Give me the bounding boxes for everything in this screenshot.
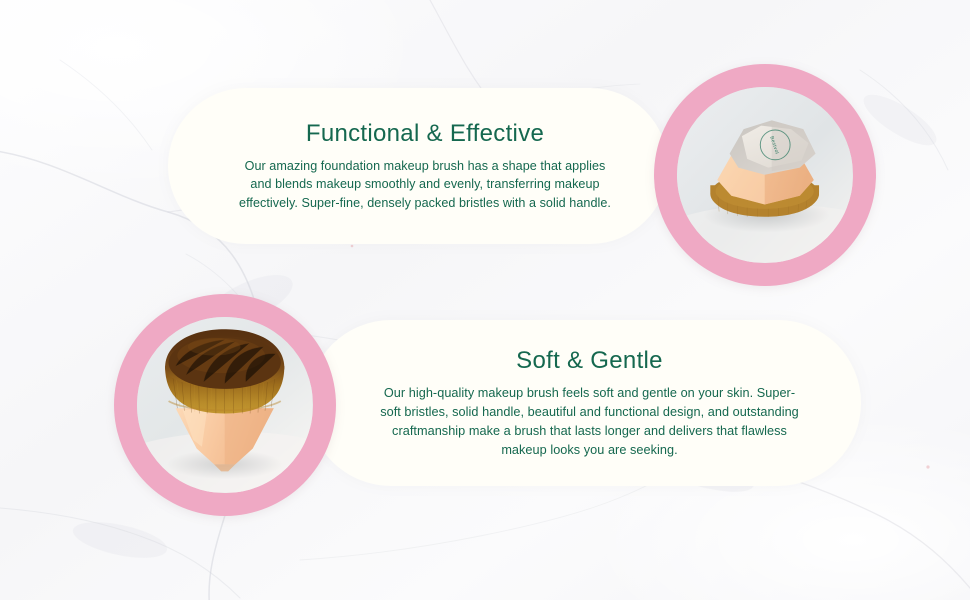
feature-card-soft-gentle: Soft & Gentle Our high-quality makeup br… — [308, 320, 861, 486]
feature-heading-functional-effective: Functional & Effective — [306, 120, 544, 148]
product-photo-brush-bristles — [137, 317, 312, 492]
feature-card-functional-effective: Functional & Effective Our amazing found… — [168, 88, 668, 244]
feature-body-soft-gentle: Our high-quality makeup brush feels soft… — [380, 384, 799, 460]
feature-heading-soft-gentle: Soft & Gentle — [516, 347, 663, 375]
product-photo-circle-brush-bristles — [114, 294, 336, 516]
feature-body-functional-effective: Our amazing foundation makeup brush has … — [234, 157, 616, 213]
product-feature-banner: Functional & Effective Our amazing found… — [0, 0, 970, 600]
product-photo-circle-hexagonal-brush: Bestvol — [654, 64, 876, 286]
product-photo-hexagonal-brush: Bestvol — [677, 87, 852, 262]
